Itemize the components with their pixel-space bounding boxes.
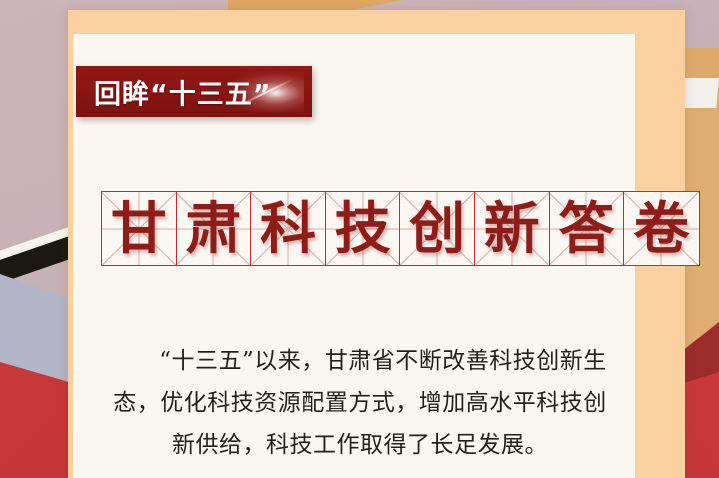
title-grid-cell: 甘 — [102, 192, 177, 265]
title-grid-cell: 卷 — [624, 192, 699, 265]
title-character: 答 — [550, 192, 624, 265]
title-character: 肃 — [177, 192, 251, 265]
title-grid-cell: 技 — [326, 192, 401, 265]
title-character: 甘 — [102, 192, 176, 265]
series-banner-label: 回眸“十三五” — [94, 72, 272, 111]
title-character: 科 — [251, 192, 325, 265]
poster-canvas: 回眸“十三五” 甘 肃 科 技 — [0, 0, 719, 478]
title-character: 技 — [326, 192, 400, 265]
title-grid-cell: 创 — [400, 192, 475, 265]
title-grid-cell: 答 — [550, 192, 625, 265]
title-character: 创 — [400, 192, 474, 265]
title-mizige-grid: 甘 肃 科 技 创 — [101, 191, 700, 266]
title-character: 卷 — [624, 192, 699, 265]
title-grid-cell: 新 — [475, 192, 550, 265]
body-paragraph: “十三五”以来，甘肃省不断改善科技创新生态，优化科技资源配置方式，增加高水平科技… — [110, 340, 610, 466]
title-grid-cell: 肃 — [177, 192, 252, 265]
title-character: 新 — [475, 192, 549, 265]
title-grid-cell: 科 — [251, 192, 326, 265]
series-banner: 回眸“十三五” — [76, 66, 312, 117]
